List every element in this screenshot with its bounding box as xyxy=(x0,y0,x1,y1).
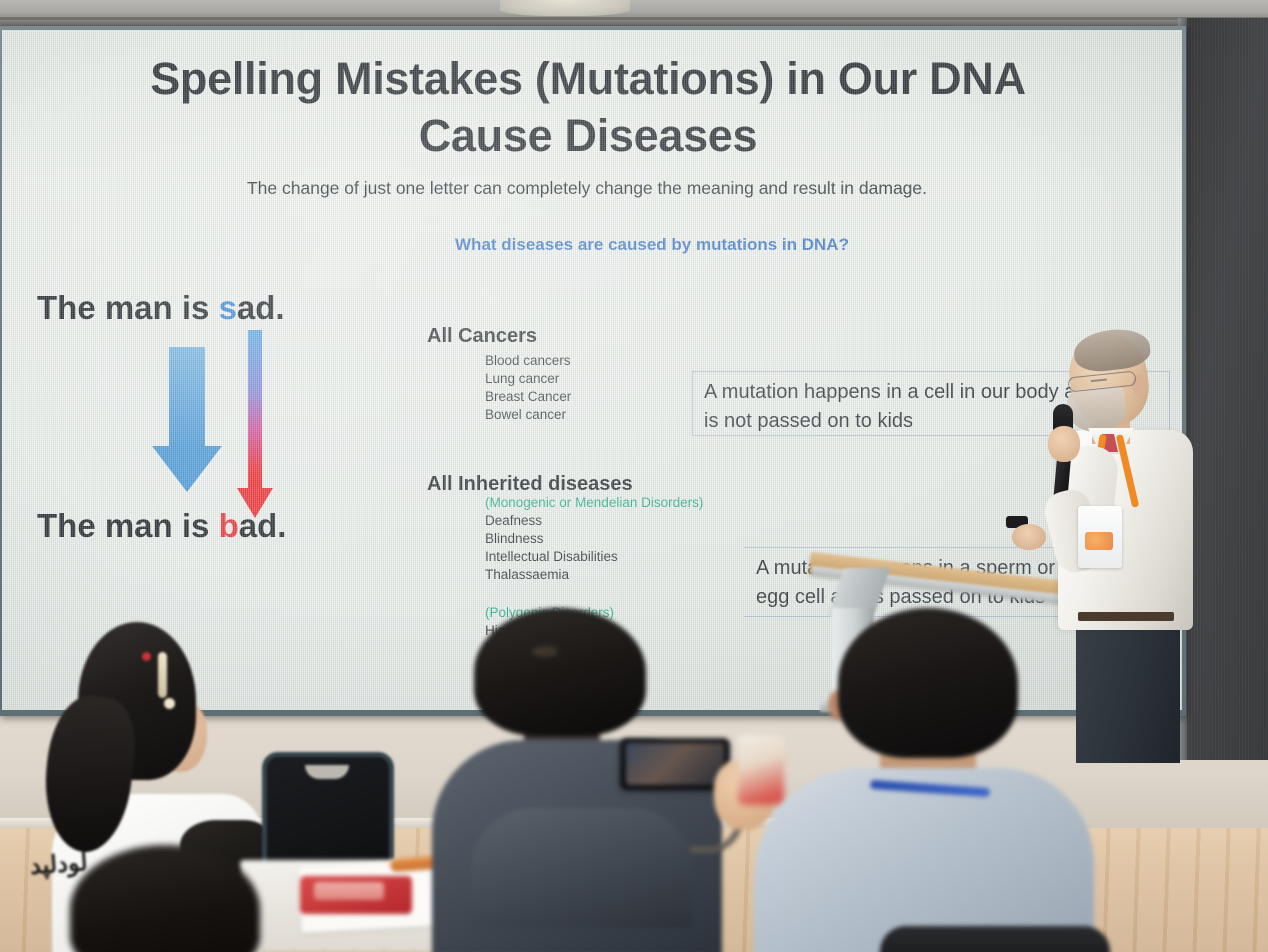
hair-clip-icon xyxy=(142,652,151,661)
example-sentence-bottom: The man is bad. xyxy=(37,507,286,545)
blue-down-arrow-icon xyxy=(152,347,222,492)
cancers-list: Blood cancers Lung cancer Breast Cancer … xyxy=(485,352,571,424)
hair-clip-icon xyxy=(158,652,167,698)
audience-member-bottom-left xyxy=(70,845,280,952)
presenter-hand-with-clicker xyxy=(1012,524,1046,550)
example-top-prefix: The man is xyxy=(37,289,219,326)
lecture-photo: Spelling Mistakes (Mutations) in Our DNA… xyxy=(0,0,1268,952)
example-sentence-top: The man is sad. xyxy=(37,289,285,327)
ceiling-light xyxy=(500,0,630,16)
hair-clip-icon xyxy=(164,698,175,709)
presenter-trousers xyxy=(1076,615,1180,763)
list-item: Intellectual Disabilities xyxy=(485,548,703,566)
cancers-heading: All Cancers xyxy=(427,325,537,348)
conference-badge xyxy=(1078,506,1122,568)
example-bottom-suffix: ad. xyxy=(239,507,287,544)
list-item: Blindness xyxy=(485,530,703,548)
example-bottom-prefix: The man is xyxy=(37,507,219,544)
list-item: Blood cancers xyxy=(485,352,571,370)
slide-title: Spelling Mistakes (Mutations) in Our DNA… xyxy=(28,50,1148,164)
example-top-letter: s xyxy=(219,289,237,326)
list-item: Deafness xyxy=(485,512,703,530)
monogenic-tag: (Monogenic or Mendelian Disorders) xyxy=(485,494,703,512)
pencil-pouch xyxy=(300,876,412,914)
list-item: Thalassaemia xyxy=(485,566,703,584)
list-item: Breast Cancer xyxy=(485,388,571,406)
presenter-belt xyxy=(1078,612,1174,621)
ceiling-seam xyxy=(0,17,1268,20)
blue-to-red-gradient-down-arrow-icon xyxy=(235,330,275,522)
ceiling xyxy=(0,0,1268,26)
slide-subtitle: The change of just one letter can comple… xyxy=(62,178,1112,199)
list-item: Lung cancer xyxy=(485,370,571,388)
presenter-hand-with-mic xyxy=(1048,426,1080,462)
slide-question-heading: What diseases are caused by mutations in… xyxy=(302,235,1002,255)
slide-title-line-2: Cause Diseases xyxy=(28,107,1148,164)
monogenic-list: (Monogenic or Mendelian Disorders) Deafn… xyxy=(485,494,703,584)
example-top-suffix: ad. xyxy=(237,289,285,326)
callout-1-border-left xyxy=(692,371,693,435)
inherited-heading: All Inherited diseases xyxy=(427,473,633,496)
list-item: Bowel cancer xyxy=(485,406,571,424)
slide-title-line-1: Spelling Mistakes (Mutations) in Our DNA xyxy=(28,50,1148,107)
audience-member-right xyxy=(760,608,1090,952)
example-bottom-letter: b xyxy=(219,507,239,544)
